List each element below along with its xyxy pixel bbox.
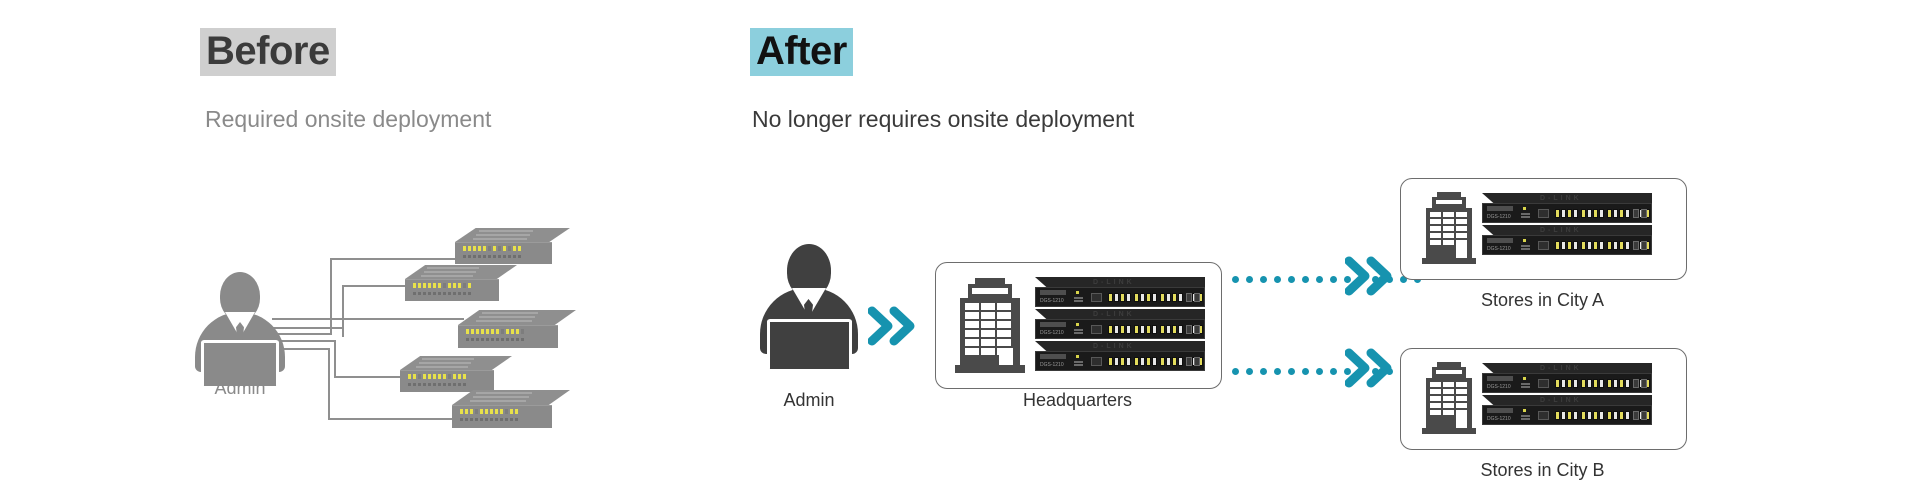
switch-model: DGS-1210 xyxy=(1487,215,1511,220)
cable-vertical-1 xyxy=(330,258,332,334)
switch-brand: D-LINK xyxy=(1540,365,1582,372)
hq-building-icon xyxy=(955,278,1025,373)
switch-model: DGS-1210 xyxy=(1040,363,1064,368)
cable-horizontal-2 xyxy=(342,285,410,287)
store-a-building-icon xyxy=(1422,192,1476,264)
switch-model: DGS-1210 xyxy=(1040,331,1064,336)
store-b-label: Stores in City B xyxy=(1400,460,1685,481)
switch-model: DGS-1210 xyxy=(1487,417,1511,422)
store-a-switch-1: D-LINK DGS-1210 xyxy=(1482,193,1652,223)
after-heading: After xyxy=(750,28,853,76)
cable-horizontal-3 xyxy=(272,318,464,320)
arrow-admin-to-hq xyxy=(868,305,920,347)
after-admin-icon xyxy=(760,244,858,354)
admin-laptop xyxy=(767,319,852,369)
switch-brand: D-LINK xyxy=(1093,311,1135,318)
before-switch-2 xyxy=(405,265,517,305)
switch-brand: D-LINK xyxy=(1540,227,1582,234)
before-admin-icon xyxy=(195,272,285,372)
cable-vertical-5 xyxy=(328,348,330,420)
before-admin-label: Admin xyxy=(195,378,285,399)
switch-brand: D-LINK xyxy=(1093,279,1135,286)
after-subtitle: No longer requires onsite deployment xyxy=(752,108,1134,131)
arrow-to-store-a xyxy=(1345,255,1397,297)
switch-model: DGS-1210 xyxy=(1487,247,1511,252)
store-a-label: Stores in City A xyxy=(1400,290,1685,311)
hq-switch-1: D-LINK DGS-1210 xyxy=(1035,277,1205,307)
after-admin-label: Admin xyxy=(758,390,860,411)
hq-switch-3: D-LINK DGS-1210 xyxy=(1035,341,1205,371)
switch-model: DGS-1210 xyxy=(1040,299,1064,304)
store-b-switch-2: D-LINK DGS-1210 xyxy=(1482,395,1652,425)
before-switch-5 xyxy=(452,390,570,432)
switch-brand: D-LINK xyxy=(1540,397,1582,404)
before-switch-1 xyxy=(455,228,570,268)
before-heading: Before xyxy=(200,28,336,76)
before-subtitle: Required onsite deployment xyxy=(205,108,491,131)
switch-brand: D-LINK xyxy=(1540,195,1582,202)
cable-horizontal-1 xyxy=(330,258,462,260)
hq-switch-2: D-LINK DGS-1210 xyxy=(1035,309,1205,339)
store-b-switch-1: D-LINK DGS-1210 xyxy=(1482,363,1652,393)
before-switch-3 xyxy=(458,310,576,352)
arrow-to-store-b xyxy=(1345,347,1397,389)
store-b-building-icon xyxy=(1422,362,1476,434)
cable-horizontal-4 xyxy=(334,376,402,378)
headquarters-label: Headquarters xyxy=(940,390,1215,411)
switch-model: DGS-1210 xyxy=(1487,385,1511,390)
cable-vertical-4 xyxy=(334,340,336,378)
switch-brand: D-LINK xyxy=(1093,343,1135,350)
cable-horizontal-5 xyxy=(328,418,458,420)
cable-vertical-2 xyxy=(342,285,344,337)
store-a-switch-2: D-LINK DGS-1210 xyxy=(1482,225,1652,255)
